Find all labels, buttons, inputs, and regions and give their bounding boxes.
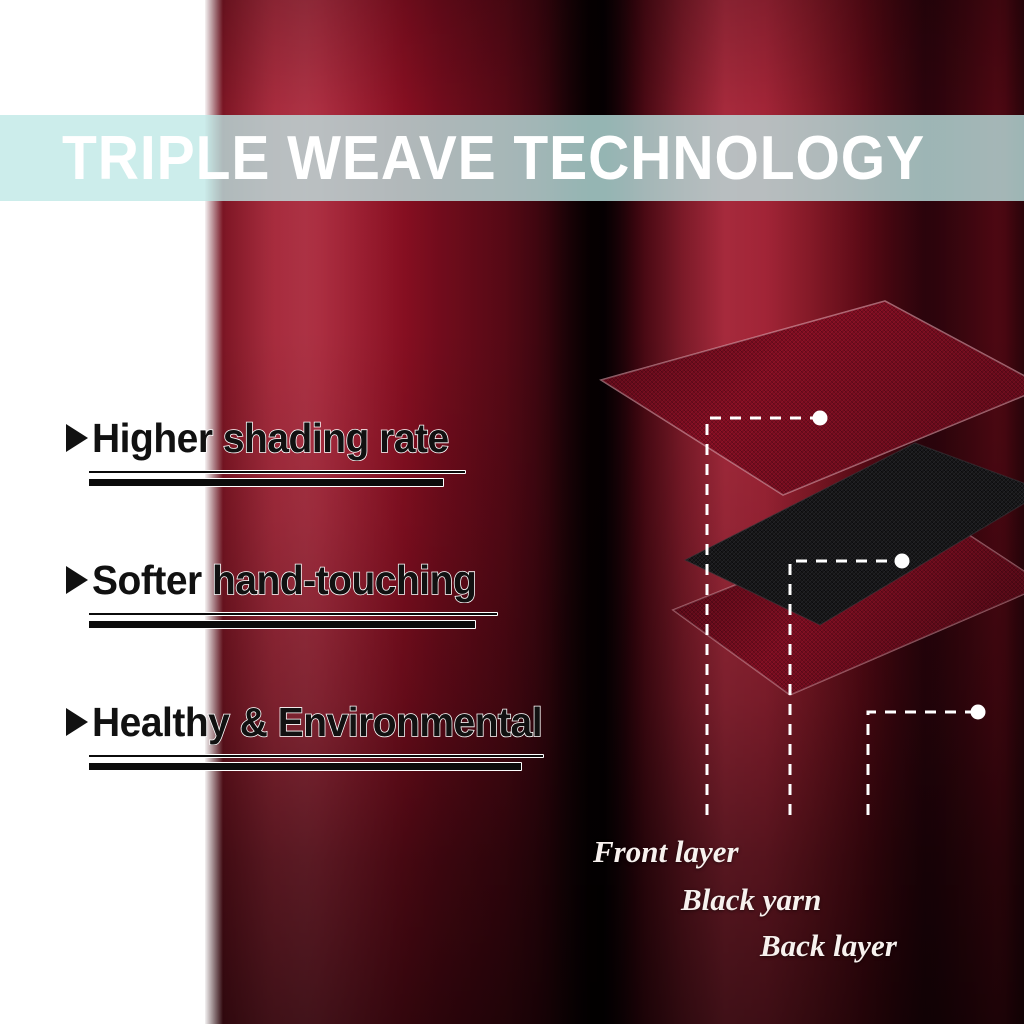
callout-dot-back xyxy=(971,705,986,720)
feature-underline xyxy=(88,612,498,629)
diagram-label-black-yarn: Black yarn xyxy=(681,882,821,918)
triangle-right-icon xyxy=(66,566,88,594)
feature-underline xyxy=(88,470,466,487)
underline-thin-rule xyxy=(88,470,466,474)
underline-thin-rule xyxy=(88,754,544,758)
callout-dot-front xyxy=(813,411,828,426)
feature-label: Healthy & Environmental xyxy=(92,699,542,746)
underline-thin-rule xyxy=(88,612,498,616)
banner-title-text: TRIPLE WEAVE TECHNOLOGY xyxy=(62,115,945,201)
triangle-right-icon xyxy=(66,424,88,452)
feature-item-softer-hand-touching: Softer hand-touching xyxy=(66,550,586,692)
diagram-label-front-layer: Front layer xyxy=(593,834,739,870)
underline-thick-rule xyxy=(88,762,522,771)
feature-list: Higher shading rate Softer hand-touching… xyxy=(66,408,586,834)
feature-label: Softer hand-touching xyxy=(92,557,476,604)
product-feature-graphic: TRIPLE WEAVE TECHNOLOGY Higher shading r… xyxy=(0,0,1024,1024)
underline-thick-rule xyxy=(88,620,476,629)
callout-dot-yarn xyxy=(895,554,910,569)
feature-item-higher-shading-rate: Higher shading rate xyxy=(66,408,586,550)
triangle-right-icon xyxy=(66,708,88,736)
triple-weave-layer-diagram xyxy=(585,295,1024,815)
callout-back-layer xyxy=(868,705,986,816)
feature-item-healthy-environmental: Healthy & Environmental xyxy=(66,692,586,834)
diagram-label-back-layer: Back layer xyxy=(760,928,897,964)
feature-label: Higher shading rate xyxy=(92,415,449,462)
feature-underline xyxy=(88,754,544,771)
underline-thick-rule xyxy=(88,478,444,487)
